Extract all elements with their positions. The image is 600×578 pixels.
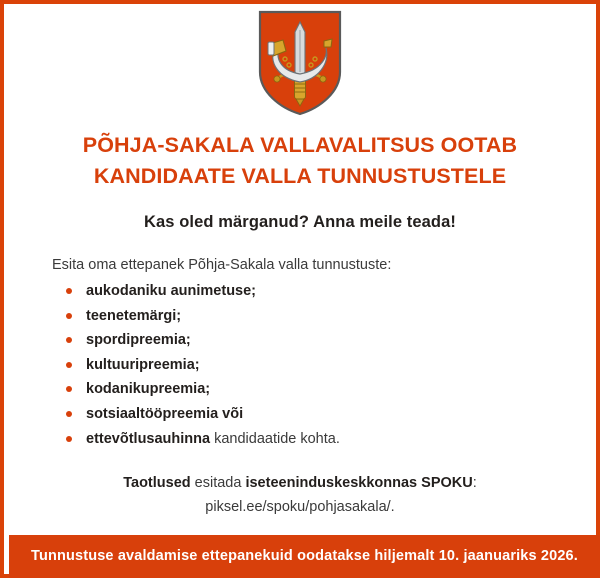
body-block: Esita oma ettepanek Põhja-Sakala valla t… (4, 256, 596, 454)
crest-container (4, 10, 596, 116)
list-item: teenetemärgi; (62, 307, 596, 326)
award-label: aukodaniku aunimetuse; (86, 283, 256, 299)
award-suffix: kandidaatide kohta. (210, 431, 340, 447)
bullet-dot-icon (66, 288, 72, 294)
poster-container: PÕHJA-SAKALA VALLAVALITSUS OOTAB KANDIDA… (0, 0, 600, 578)
apply-bold-1: Taotlused (123, 475, 190, 491)
award-label: teenetemärgi; (86, 308, 181, 324)
pohja-sakala-coat-of-arms-icon (258, 10, 342, 116)
spoku-url[interactable]: piksel.ee/spoku/pohjasakala/. (4, 496, 596, 518)
intro-text: Esita oma ettepanek Põhja-Sakala valla t… (52, 256, 596, 275)
award-label: kodanikupreemia; (86, 381, 210, 397)
bullet-dot-icon (66, 386, 72, 392)
deadline-banner: Tunnustuse avaldamise ettepanekuid oodat… (9, 535, 600, 578)
bullet-dot-icon (66, 436, 72, 442)
list-item: sotsiaaltööpreemia või (62, 405, 596, 424)
page-subtitle: Kas oled märganud? Anna meile teada! (4, 213, 596, 232)
award-label: kultuuripreemia; (86, 357, 200, 373)
award-label: spordipreemia; (86, 332, 191, 348)
list-item: kodanikupreemia; (62, 380, 596, 399)
page-title-line-2: KANDIDAATE VALLA TUNNUSTUSTELE (34, 161, 566, 192)
apply-bold-2: iseteeninduskeskkonnas SPOKU (245, 475, 472, 491)
apply-regular-2: : (473, 475, 477, 491)
page-title: PÕHJA-SAKALA VALLAVALITSUS OOTAB KANDIDA… (4, 130, 596, 191)
page-title-line-1: PÕHJA-SAKALA VALLAVALITSUS OOTAB (34, 130, 566, 161)
awards-list: aukodaniku aunimetuse; teenetemärgi; spo… (52, 282, 596, 449)
list-item: ettevõtlusauhinna kandidaatide kohta. (62, 430, 596, 449)
list-item: aukodaniku aunimetuse; (62, 282, 596, 301)
list-item: spordipreemia; (62, 331, 596, 350)
bullet-dot-icon (66, 362, 72, 368)
bullet-dot-icon (66, 337, 72, 343)
bullet-dot-icon (66, 411, 72, 417)
bullet-dot-icon (66, 313, 72, 319)
award-label: ettevõtlusauhinna (86, 431, 210, 447)
list-item: kultuuripreemia; (62, 356, 596, 375)
apply-instructions: Taotlused esitada iseteeninduskeskkonnas… (4, 472, 596, 518)
apply-regular-1: esitada (191, 475, 246, 491)
award-label: sotsiaaltööpreemia või (86, 406, 243, 422)
